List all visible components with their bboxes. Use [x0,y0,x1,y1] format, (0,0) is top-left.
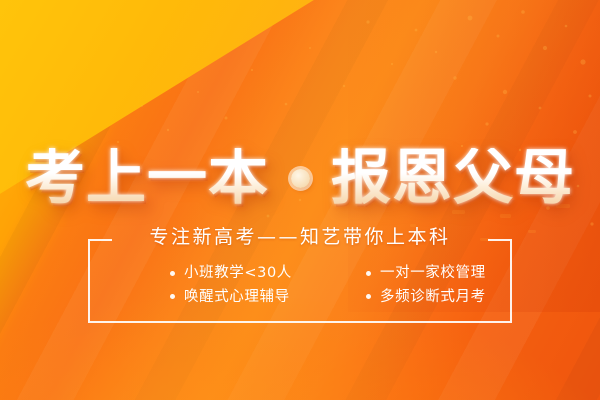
feature-item: 唤醒式心理辅导 [104,290,300,305]
feature-item: 多频诊断式月考 [300,290,496,305]
subtitle: 专注新高考——知艺带你上本科 [0,228,600,247]
headline-right: 报恩父母 [331,148,575,208]
feature-label: 一对一家校管理 [380,266,486,281]
headline-row: 考上一本 报恩父母 [0,136,600,220]
bullet-dot-icon [366,294,371,299]
headline-left: 考上一本 [25,148,269,208]
bullet-dot-icon [366,271,371,276]
feature-list: 小班教学<30人 一对一家校管理 唤醒式心理辅导 多频诊断式月考 [104,266,496,304]
dot-separator-icon [269,136,331,220]
dot-separator-shape [291,169,310,188]
feature-item: 一对一家校管理 [300,266,496,281]
feature-label: 小班教学<30人 [184,266,292,281]
feature-item: 小班教学<30人 [104,266,300,281]
promo-banner: 考上一本 报恩父母 专注新高考——知艺带你上本科 小班教学<30人 一对一家校管… [0,0,600,400]
feature-label: 多频诊断式月考 [380,290,486,305]
feature-label: 唤醒式心理辅导 [184,290,290,305]
bullet-dot-icon [170,271,175,276]
bullet-dot-icon [170,294,175,299]
